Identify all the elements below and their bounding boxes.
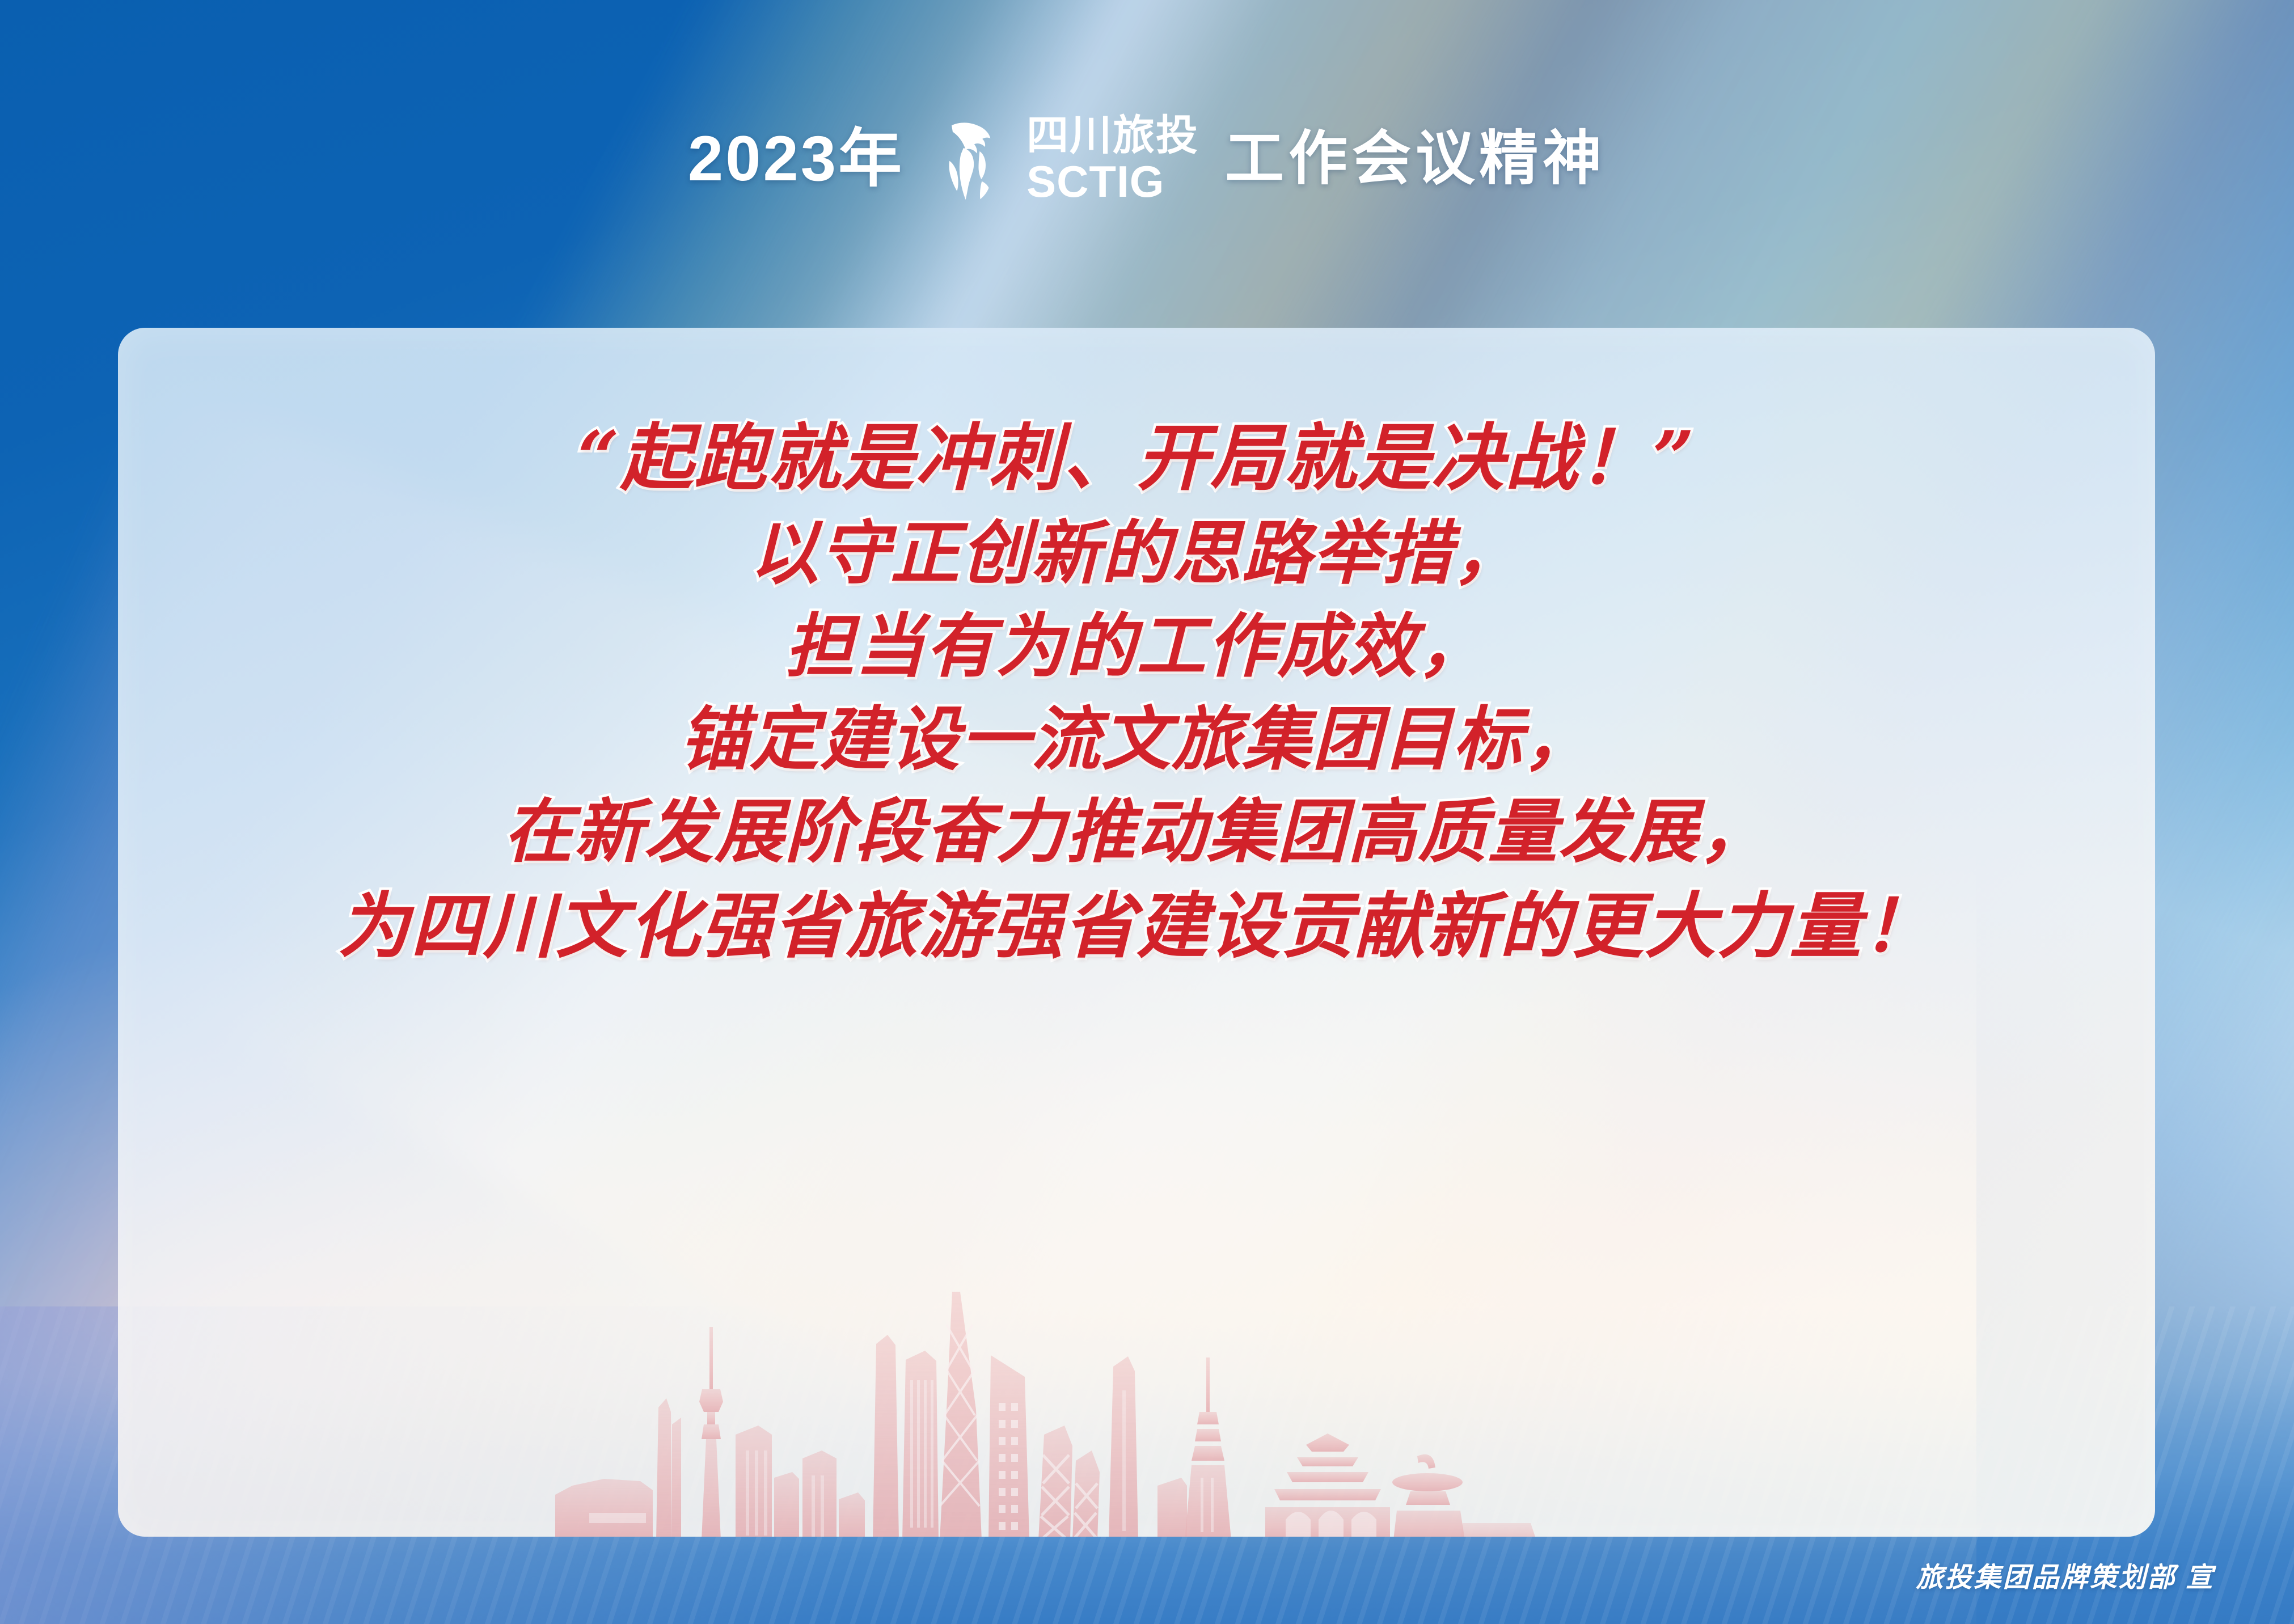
chengdu-skyline-silhouette <box>555 1291 1718 1537</box>
content-panel: “起跑就是冲刺、开局就是决战！” 以守正创新的思路举措， 担当有为的工作成效， … <box>118 328 2155 1537</box>
sctig-logo-english: SCTIG <box>1026 159 1199 204</box>
slogan-block: “起跑就是冲刺、开局就是决战！” 以守正创新的思路举措， 担当有为的工作成效， … <box>118 413 2155 971</box>
slogan-line-4: 锚定建设一流文旅集团目标， <box>679 696 1594 783</box>
slogan-line-1: “起跑就是冲刺、开局就是决战！” <box>577 413 1695 504</box>
slogan-line-2: 以守正创新的思路举措， <box>750 510 1523 597</box>
slogan-line-3: 担当有为的工作成效， <box>785 603 1488 690</box>
header-title-label: 工作会议精神 <box>1225 129 1606 188</box>
header-year-label: 2023年 <box>688 127 904 191</box>
sctig-logo: 四川旅投 SCTIG <box>930 114 1199 203</box>
sctig-logo-wordmark: 四川旅投 SCTIG <box>1026 114 1199 203</box>
slogan-line-5: 在新发展阶段奋力推动集团高质量发展， <box>504 788 1769 876</box>
poster-header: 2023年 四川旅投 SCTIG 工作会议精神 <box>0 0 2294 318</box>
footer-credit: 旅投集团品牌策划部 宣 <box>1916 1555 2215 1595</box>
sctig-logo-chinese: 四川旅投 <box>1026 114 1199 157</box>
poster-canvas: 2023年 四川旅投 SCTIG 工作会议精神 “起跑就是冲刺、开局 <box>0 0 2294 1624</box>
slogan-line-6: 为四川文化强省旅游强省建设贡献新的更大力量！ <box>338 881 1935 971</box>
sctig-globe-logo-icon <box>930 116 1016 202</box>
